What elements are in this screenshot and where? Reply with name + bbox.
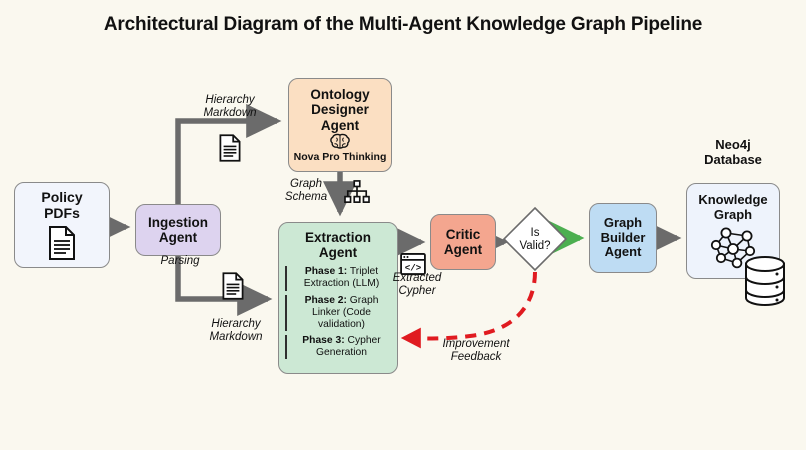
code-window-icon: </> <box>400 253 426 275</box>
critic-line2: Agent <box>444 242 482 257</box>
phase-1-label: Phase 1: <box>305 266 347 277</box>
builder-line3: Agent <box>605 244 642 259</box>
extraction-line1: Extraction <box>305 230 371 245</box>
phase-3-label: Phase 3: <box>302 335 344 346</box>
hierarchy-markdown-bottom-text: Hierarchy Markdown <box>209 318 262 343</box>
ingestion-line2: Agent <box>159 230 197 245</box>
database-cylinder-icon <box>743 255 787 307</box>
neo4j-line1: Neo4j <box>715 137 750 152</box>
parsing-text: Parsing <box>161 255 200 267</box>
document-icon <box>221 272 245 300</box>
node-ontology-designer-agent[interactable]: Ontology Designer Agent Nova Pro Thinkin… <box>288 78 392 172</box>
edge-label-graph-schema: Graph Schema <box>276 178 336 205</box>
ontology-line1: Ontology <box>310 87 369 102</box>
kg-line2: Graph <box>714 207 752 222</box>
edge-label-hierarchy-markdown-top: Hierarchy Markdown <box>178 94 282 121</box>
ontology-model-label: Nova Pro Thinking <box>294 151 387 163</box>
node-policy-pdfs[interactable]: Policy PDFs <box>14 182 110 268</box>
ontology-line2: Designer <box>311 102 369 117</box>
page-title: Architectural Diagram of the Multi-Agent… <box>0 14 806 36</box>
kg-line1: Knowledge <box>698 192 767 207</box>
document-icon <box>218 134 242 162</box>
builder-line2: Builder <box>601 230 646 245</box>
svg-text:</>: </> <box>405 262 422 273</box>
brain-icon <box>329 133 351 150</box>
neo4j-line2: Database <box>704 152 762 167</box>
node-graph-builder-agent[interactable]: Graph Builder Agent <box>589 203 657 273</box>
document-icon-bottom-wrap <box>221 272 245 305</box>
diagram-canvas: Architectural Diagram of the Multi-Agent… <box>0 0 806 450</box>
decision-line1: Is <box>531 227 540 239</box>
edge-label-improvement-feedback: Improvement Feedback <box>416 338 536 365</box>
ontology-line3: Agent <box>321 118 359 133</box>
edge-label-parsing: Parsing <box>140 255 220 268</box>
database-cylinder-icon-wrap <box>743 255 787 312</box>
code-window-icon-wrap: </> <box>400 253 426 280</box>
document-icon-top-wrap <box>218 134 242 167</box>
node-critic-agent[interactable]: Critic Agent <box>430 214 496 270</box>
graph-schema-text: Graph Schema <box>285 178 327 203</box>
hierarchy-markdown-top-text: Hierarchy Markdown <box>203 94 256 119</box>
extraction-phase-1: Phase 1: Triplet Extraction (LLM) <box>285 266 391 290</box>
decision-line2: Valid? <box>519 240 550 252</box>
neo4j-database-label: Neo4j Database <box>676 138 790 168</box>
policy-pdfs-line1: Policy <box>41 189 82 205</box>
hierarchy-tree-icon <box>344 180 370 204</box>
policy-pdfs-line2: PDFs <box>44 205 80 221</box>
builder-line1: Graph <box>604 215 642 230</box>
phase-divider-bar <box>285 266 287 290</box>
node-extraction-agent[interactable]: Extraction Agent Phase 1: Triplet Extrac… <box>278 222 398 374</box>
extraction-phase-3: Phase 3: Cypher Generation <box>285 335 391 359</box>
extraction-phase-2: Phase 2: Graph Linker (Code validation) <box>285 295 391 331</box>
extraction-line2: Agent <box>319 245 357 260</box>
document-icon <box>47 226 77 260</box>
ingestion-line1: Ingestion <box>148 215 208 230</box>
phase-2-label: Phase 2: <box>305 295 347 306</box>
edge-label-hierarchy-markdown-bottom: Hierarchy Markdown <box>184 318 288 345</box>
critic-line1: Critic <box>446 227 481 242</box>
hierarchy-tree-icon-wrap <box>344 180 370 209</box>
improvement-feedback-text: Improvement Feedback <box>442 338 509 363</box>
decision-is-valid[interactable]: Is Valid? <box>505 222 565 258</box>
node-ingestion-agent[interactable]: Ingestion Agent <box>135 204 221 256</box>
